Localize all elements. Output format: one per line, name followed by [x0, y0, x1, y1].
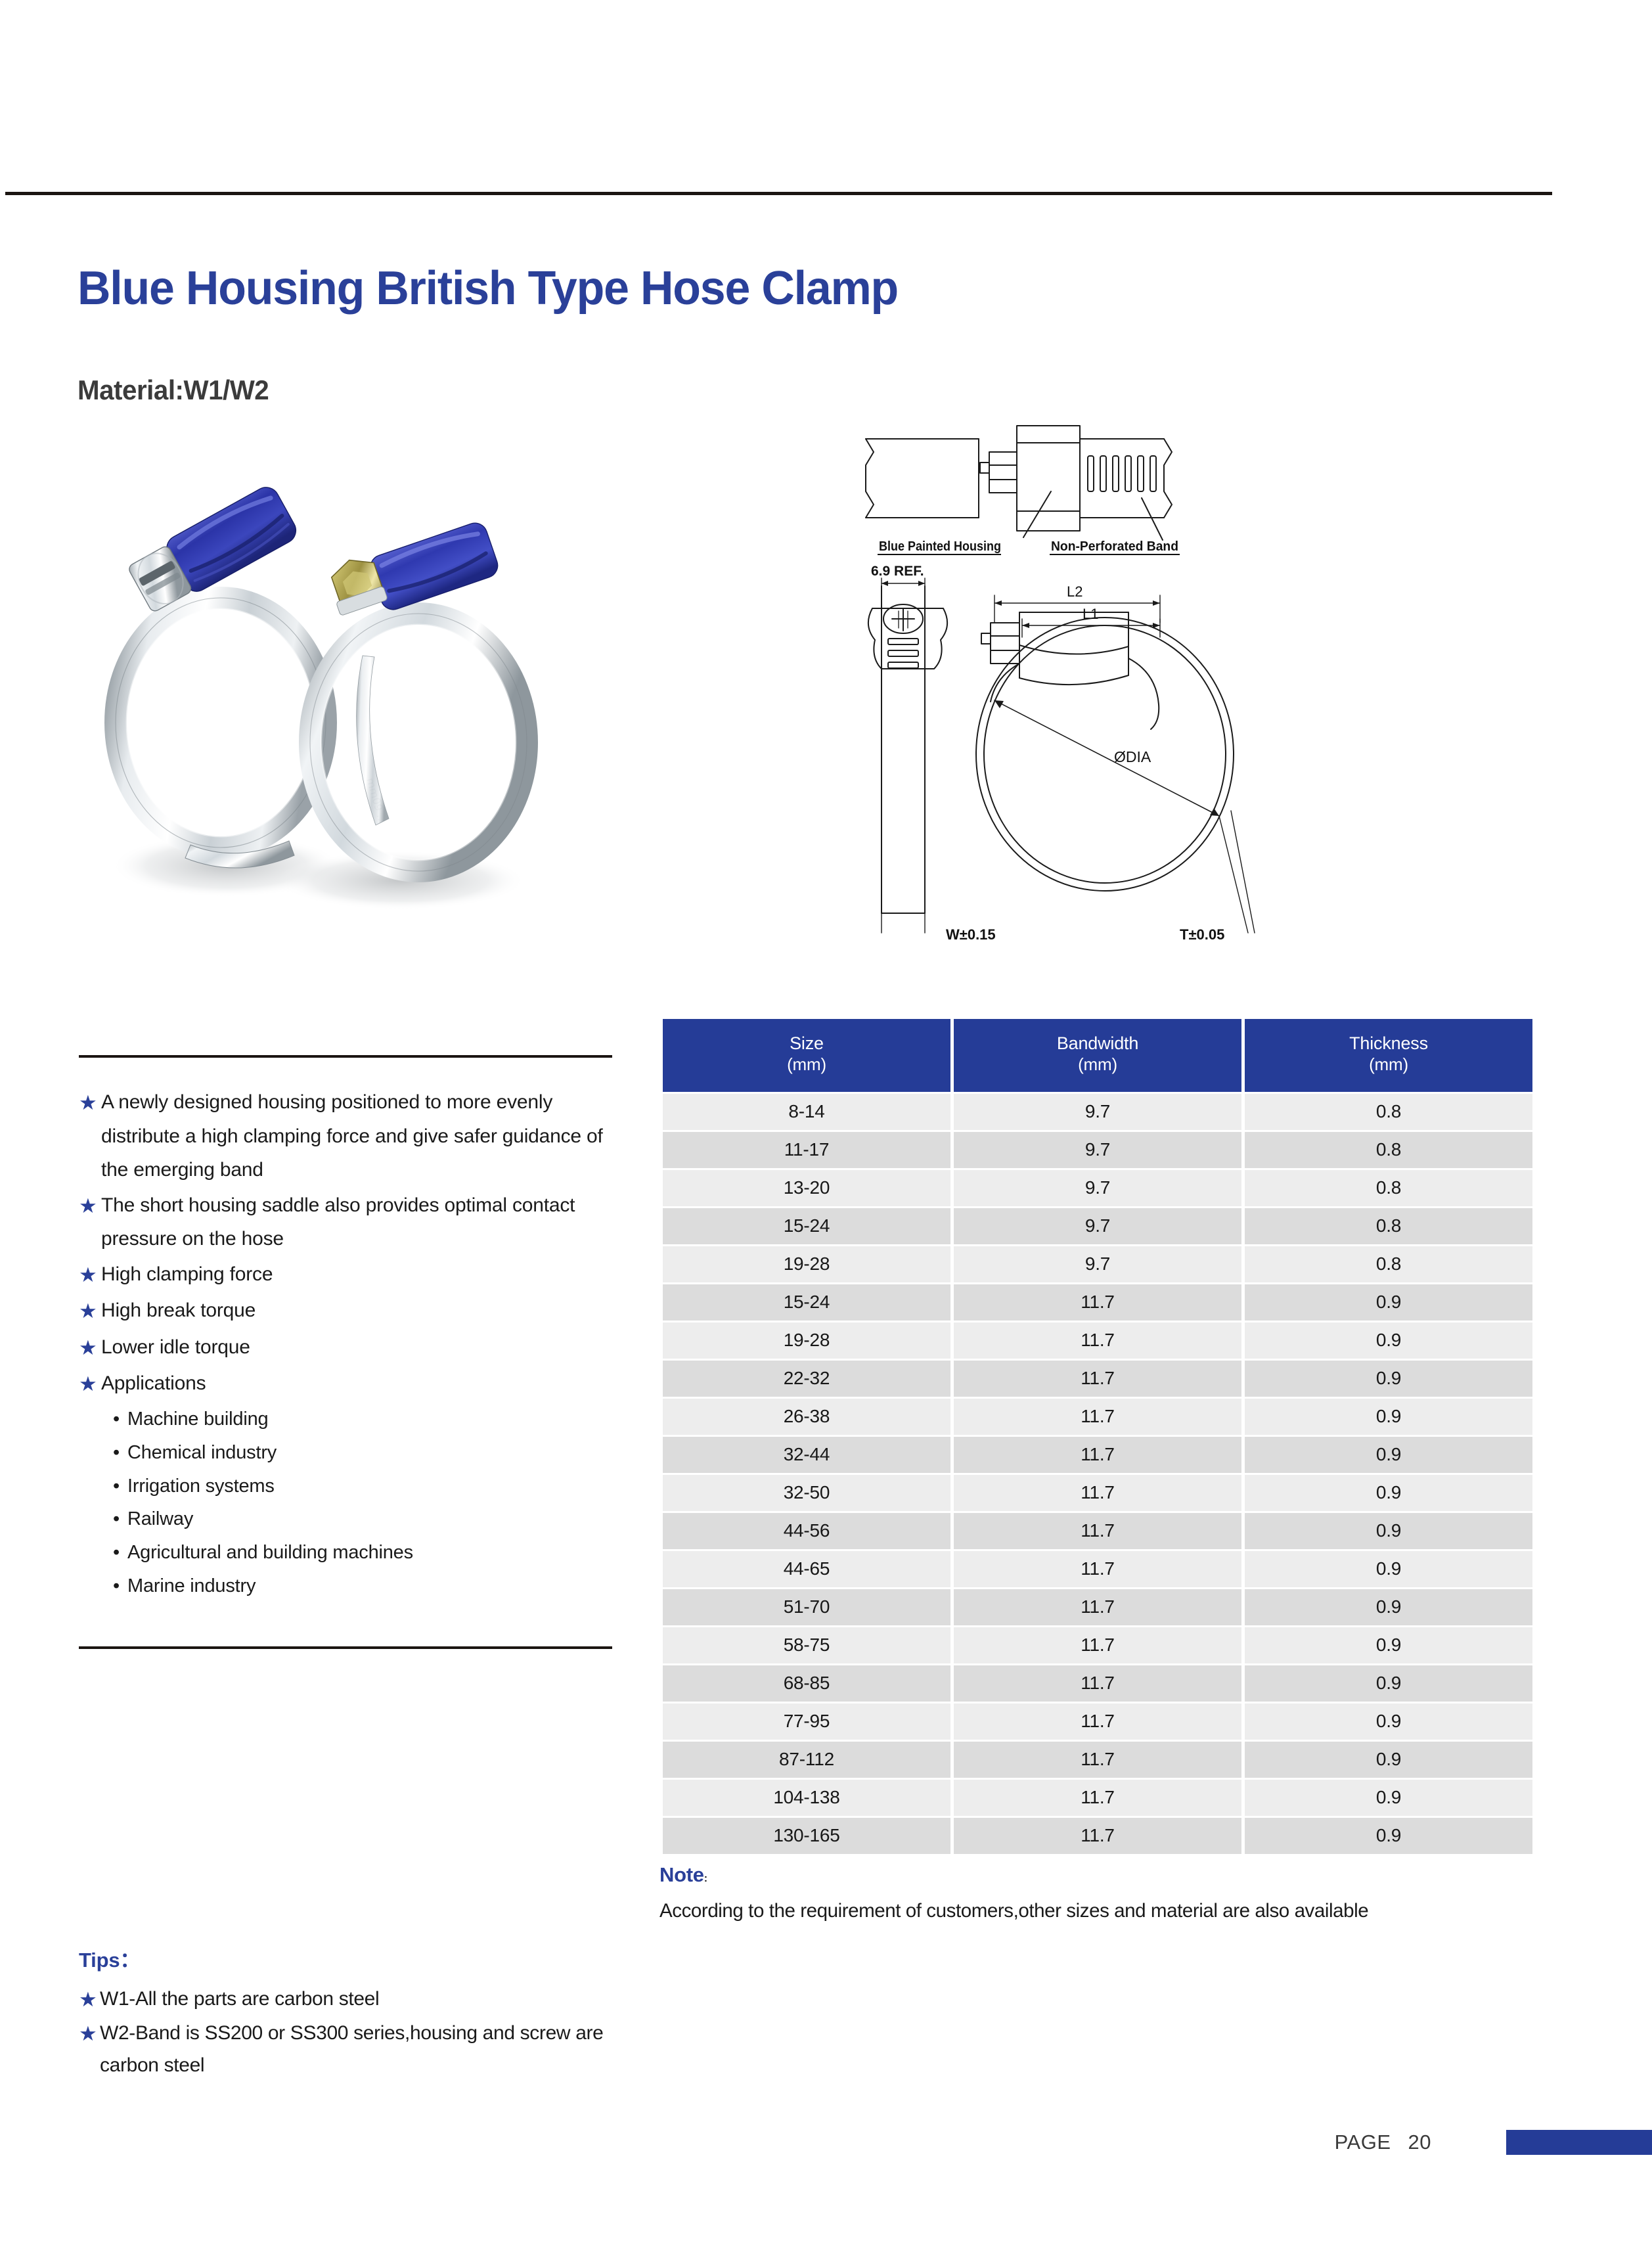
feature-text: High break torque: [101, 1294, 612, 1328]
table-cell: 0.9: [1245, 1437, 1532, 1473]
application-text: Marine industry: [127, 1575, 256, 1596]
dot-bullet-icon: •: [113, 1536, 127, 1569]
table-row: 87-11211.70.9: [663, 1742, 1532, 1778]
table-row: 51-7011.70.9: [663, 1589, 1532, 1625]
table-cell: 44-56: [663, 1513, 950, 1549]
list-item: ★ W1-All the parts are carbon steel: [79, 1983, 617, 2016]
table-cell: 0.9: [1245, 1513, 1532, 1549]
list-item: ★ The short housing saddle also provides…: [79, 1188, 612, 1256]
column-header-size: Size (mm): [663, 1019, 950, 1092]
star-bullet-icon: ★: [79, 1366, 101, 1401]
star-bullet-icon: ★: [79, 1188, 101, 1223]
table-cell: 11.7: [954, 1437, 1241, 1473]
tip-text: W2-Band is SS200 or SS300 series,housing…: [100, 2018, 617, 2081]
table-row: 19-2811.70.9: [663, 1322, 1532, 1359]
label-dia: ØDIA: [1114, 748, 1151, 765]
table-cell: 0.9: [1245, 1818, 1532, 1854]
table-row: 15-249.70.8: [663, 1208, 1532, 1244]
list-item: ★ Lower idle torque: [79, 1330, 612, 1365]
star-bullet-icon: ★: [79, 2018, 100, 2050]
table-row: 44-6511.70.9: [663, 1551, 1532, 1587]
list-item: ★ W2-Band is SS200 or SS300 series,housi…: [79, 2018, 617, 2081]
tips-list: ★ W1-All the parts are carbon steel ★ W2…: [79, 1973, 617, 2081]
column-header-unit: (mm): [663, 1054, 950, 1075]
dot-bullet-icon: •: [113, 1403, 127, 1436]
list-item: •Machine building: [113, 1403, 612, 1436]
table-row: 58-7511.70.9: [663, 1627, 1532, 1663]
page-label: PAGE: [1335, 2131, 1391, 2154]
note-section: Note: According to the requirement of cu…: [659, 1863, 1540, 1922]
table-cell: 9.7: [954, 1208, 1241, 1244]
star-bullet-icon: ★: [79, 1257, 101, 1292]
table-cell: 0.9: [1245, 1322, 1532, 1359]
table-cell: 77-95: [663, 1704, 950, 1740]
dot-bullet-icon: •: [113, 1569, 127, 1603]
table-cell: 11.7: [954, 1399, 1241, 1435]
table-cell: 0.9: [1245, 1665, 1532, 1702]
table-cell: 11.7: [954, 1742, 1241, 1778]
table-cell: 9.7: [954, 1132, 1241, 1168]
table-cell: 68-85: [663, 1665, 950, 1702]
column-header-unit: (mm): [1245, 1054, 1532, 1075]
table-cell: 11.7: [954, 1322, 1241, 1359]
table-cell: 32-50: [663, 1475, 950, 1511]
dot-bullet-icon: •: [113, 1436, 127, 1470]
note-heading: Note:: [659, 1863, 1540, 1887]
application-text: Irrigation systems: [127, 1476, 275, 1497]
table-cell: 13-20: [663, 1170, 950, 1206]
column-header-label: Bandwidth: [1057, 1033, 1138, 1053]
table-cell: 8-14: [663, 1094, 950, 1130]
table-row: 32-5011.70.9: [663, 1475, 1532, 1511]
page-number: 20: [1408, 2131, 1431, 2154]
tips-section: Tips： ★ W1-All the parts are carbon stee…: [79, 1943, 617, 2083]
note-body: According to the requirement of customer…: [659, 1900, 1527, 1922]
table-cell: 19-28: [663, 1322, 950, 1359]
table-cell: 0.8: [1245, 1094, 1532, 1130]
list-item: ★ High break torque: [79, 1294, 612, 1328]
table-row: 11-179.70.8: [663, 1132, 1532, 1168]
table-cell: 130-165: [663, 1818, 950, 1854]
column-header-unit: (mm): [954, 1054, 1241, 1075]
star-bullet-icon: ★: [79, 1983, 100, 2016]
table-cell: 11.7: [954, 1284, 1241, 1321]
dot-bullet-icon: •: [113, 1470, 127, 1503]
tips-label: Tips：: [79, 1943, 617, 1973]
table-cell: 0.9: [1245, 1780, 1532, 1816]
table-cell: 11.7: [954, 1589, 1241, 1625]
table-cell: 0.9: [1245, 1361, 1532, 1397]
material-subtitle: Material:W1/W2: [78, 374, 269, 406]
table-cell: 11.7: [954, 1627, 1241, 1663]
table-cell: 44-65: [663, 1551, 950, 1587]
list-item: ★ A newly designed housing positioned to…: [79, 1085, 612, 1187]
product-photo: mm09 ..: [92, 460, 578, 933]
table-cell: 0.9: [1245, 1551, 1532, 1587]
table-cell: 11.7: [954, 1665, 1241, 1702]
list-item: •Agricultural and building machines: [113, 1536, 612, 1569]
feature-text: Applications: [101, 1366, 612, 1401]
table-cell: 11.7: [954, 1475, 1241, 1511]
table-cell: 0.9: [1245, 1284, 1532, 1321]
table-cell: 9.7: [954, 1246, 1241, 1282]
table-row: 15-2411.70.9: [663, 1284, 1532, 1321]
application-text: Agricultural and building machines: [127, 1542, 413, 1563]
table-row: 130-16511.70.9: [663, 1818, 1532, 1854]
table-cell: 26-38: [663, 1399, 950, 1435]
list-item: •Irrigation systems: [113, 1470, 612, 1503]
table-cell: 87-112: [663, 1742, 950, 1778]
top-divider-rule: [5, 192, 1552, 195]
note-colon: :: [704, 1873, 707, 1884]
table-row: 44-5611.70.9: [663, 1513, 1532, 1549]
feature-bottom-rule: [79, 1646, 612, 1649]
label-blue-painted-housing: Blue Painted Housing: [879, 539, 1001, 554]
application-text: Chemical industry: [127, 1442, 277, 1463]
dot-bullet-icon: •: [113, 1502, 127, 1536]
table-cell: 0.8: [1245, 1132, 1532, 1168]
table-cell: 0.9: [1245, 1475, 1532, 1511]
column-header-bandwidth: Bandwidth (mm): [954, 1019, 1241, 1092]
table-cell: 0.9: [1245, 1704, 1532, 1740]
table-row: 104-13811.70.9: [663, 1780, 1532, 1816]
list-item: ★ High clamping force: [79, 1257, 612, 1292]
table-cell: 0.8: [1245, 1246, 1532, 1282]
column-header-label: Thickness: [1349, 1033, 1428, 1053]
table-cell: 22-32: [663, 1361, 950, 1397]
footer-accent-bar: [1506, 2130, 1652, 2155]
star-bullet-icon: ★: [79, 1330, 101, 1365]
feature-text: Lower idle torque: [101, 1330, 612, 1365]
table-cell: 11-17: [663, 1132, 950, 1168]
table-row: 26-3811.70.9: [663, 1399, 1532, 1435]
page-title: Blue Housing British Type Hose Clamp: [78, 261, 898, 315]
table-cell: 15-24: [663, 1284, 950, 1321]
star-bullet-icon: ★: [79, 1085, 101, 1120]
label-non-perforated-band: Non-Perforated Band: [1051, 539, 1178, 554]
feature-text: A newly designed housing positioned to m…: [101, 1085, 612, 1187]
column-header-thickness: Thickness (mm): [1245, 1019, 1532, 1092]
table-cell: 9.7: [954, 1094, 1241, 1130]
table-cell: 11.7: [954, 1513, 1241, 1549]
table-row: 19-289.70.8: [663, 1246, 1532, 1282]
list-item: •Chemical industry: [113, 1436, 612, 1470]
footer-page-indicator: PAGE20: [1335, 2131, 1431, 2154]
star-bullet-icon: ★: [79, 1294, 101, 1328]
table-row: 68-8511.70.9: [663, 1665, 1532, 1702]
table-cell: 58-75: [663, 1627, 950, 1663]
table-cell: 11.7: [954, 1704, 1241, 1740]
tip-text: W1-All the parts are carbon steel: [100, 1983, 379, 2016]
table-cell: 104-138: [663, 1780, 950, 1816]
table-header-row: Size (mm) Bandwidth (mm) Thickness (mm): [663, 1019, 1532, 1092]
table-cell: 0.9: [1245, 1399, 1532, 1435]
table-cell: 11.7: [954, 1551, 1241, 1587]
label-width-tolerance: W±0.15: [946, 926, 996, 943]
feature-list-section: ★ A newly designed housing positioned to…: [79, 1055, 612, 1603]
list-item: ★ Applications: [79, 1366, 612, 1401]
label-l1: L1: [1083, 606, 1098, 622]
specification-table: Size (mm) Bandwidth (mm) Thickness (mm) …: [659, 1017, 1536, 1856]
table-cell: 11.7: [954, 1780, 1241, 1816]
catalog-page: Blue Housing British Type Hose Clamp Mat…: [0, 0, 1652, 2258]
table-cell: 19-28: [663, 1246, 950, 1282]
table-row: 77-9511.70.9: [663, 1704, 1532, 1740]
table-cell: 0.9: [1245, 1742, 1532, 1778]
feature-list: ★ A newly designed housing positioned to…: [79, 1058, 612, 1401]
note-label: Note: [659, 1863, 704, 1886]
table-row: 32-4411.70.9: [663, 1437, 1532, 1473]
table-cell: 11.7: [954, 1361, 1241, 1397]
table-cell: 32-44: [663, 1437, 950, 1473]
table-cell: 11.7: [954, 1818, 1241, 1854]
list-item: •Railway: [113, 1502, 612, 1536]
table-row: 8-149.70.8: [663, 1094, 1532, 1130]
table-cell: 9.7: [954, 1170, 1241, 1206]
table-row: 22-3211.70.9: [663, 1361, 1532, 1397]
table-cell: 0.8: [1245, 1170, 1532, 1206]
table-row: 13-209.70.8: [663, 1170, 1532, 1206]
table-cell: 0.9: [1245, 1627, 1532, 1663]
application-text: Machine building: [127, 1409, 268, 1430]
table-cell: 15-24: [663, 1208, 950, 1244]
table-cell: 51-70: [663, 1589, 950, 1625]
list-item: •Marine industry: [113, 1569, 612, 1603]
feature-text: High clamping force: [101, 1257, 612, 1292]
application-text: Railway: [127, 1508, 193, 1529]
table-cell: 0.8: [1245, 1208, 1532, 1244]
label-thickness-tolerance: T±0.05: [1180, 926, 1224, 943]
table-cell: 0.9: [1245, 1589, 1532, 1625]
label-69-ref: 6.9 REF.: [871, 564, 924, 579]
label-l2: L2: [1067, 583, 1083, 600]
column-header-label: Size: [790, 1033, 824, 1053]
applications-list: •Machine building •Chemical industry •Ir…: [79, 1403, 612, 1603]
feature-text: The short housing saddle also provides o…: [101, 1188, 612, 1256]
technical-drawing: Blue Painted Housing Non-Perforated Band: [854, 414, 1386, 953]
